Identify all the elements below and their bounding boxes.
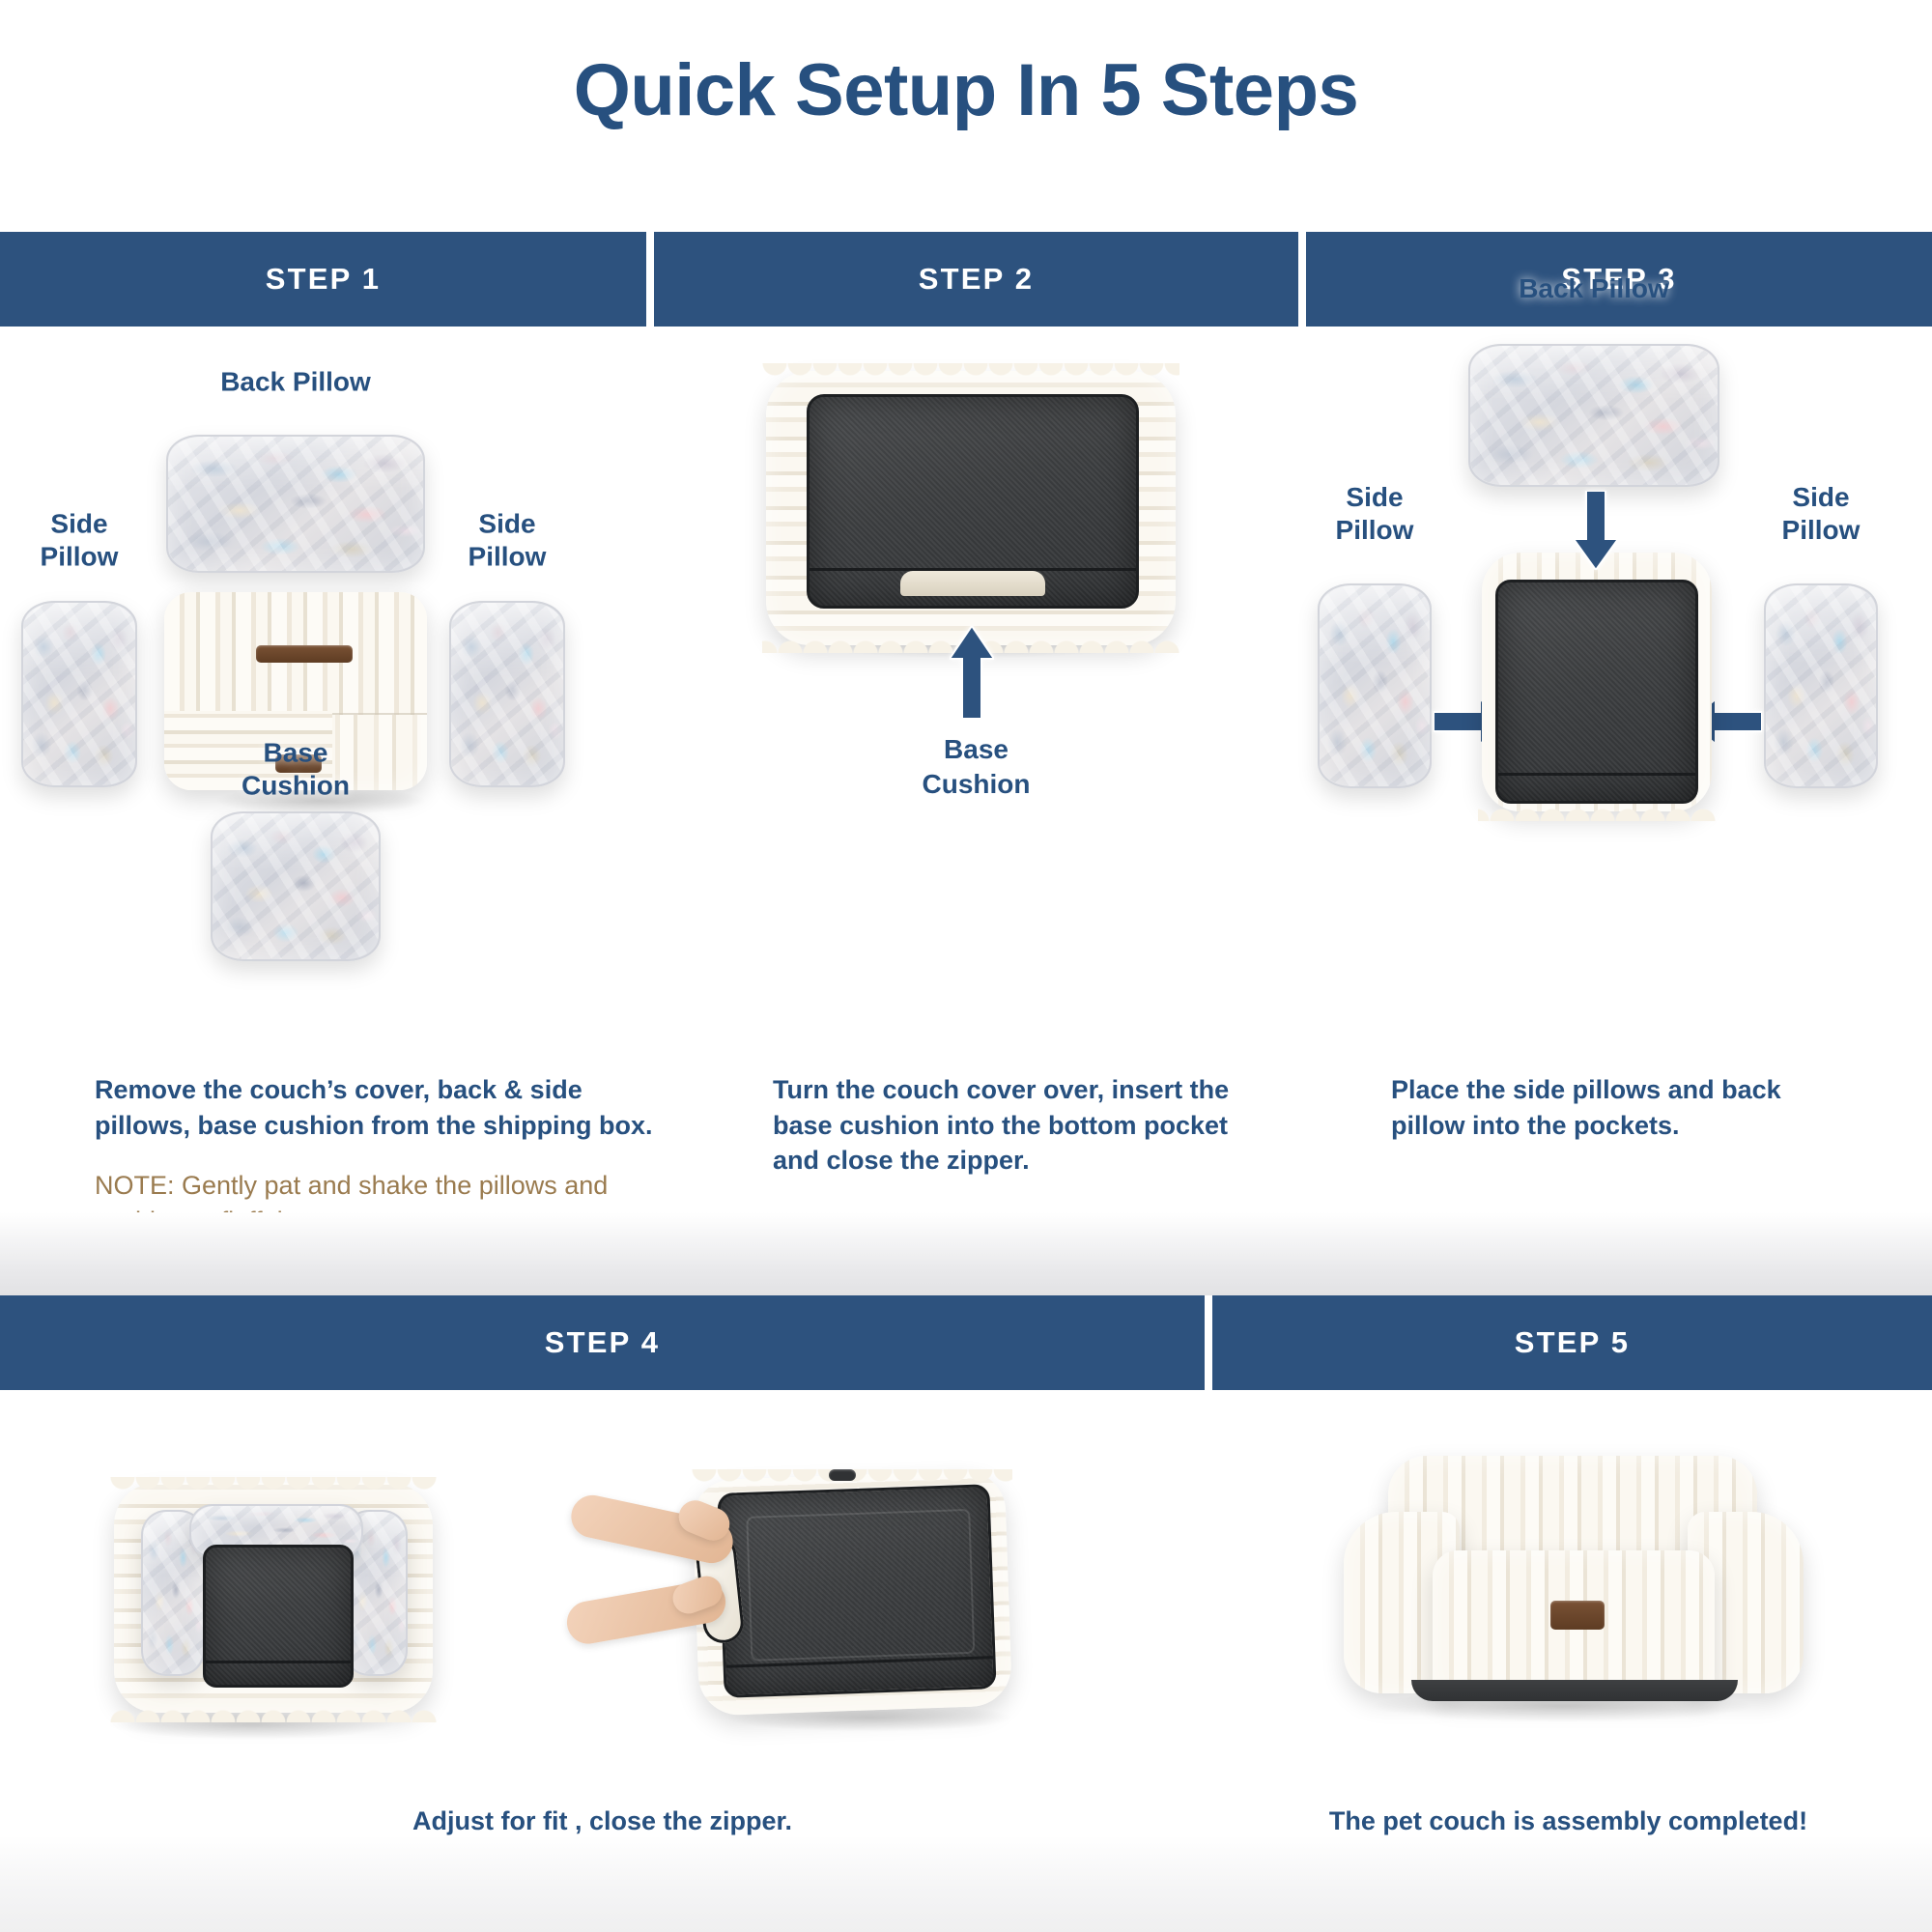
step-1-column: Back Pillow Side Pillow Side Pillow <box>0 327 646 1041</box>
zipper-liner-step4b <box>717 1484 996 1698</box>
cover-handle-strap <box>256 645 353 663</box>
liner-seam-step3 <box>1498 773 1695 776</box>
step-4-column-b <box>599 1390 1205 1776</box>
hang-loop-step4b <box>829 1469 856 1481</box>
liner-inner-outline <box>746 1509 975 1662</box>
step2-label-line2: Cushion <box>923 769 1031 799</box>
step-3-column: Back Pillow Side Pillow Side Pillow <box>1306 327 1932 1041</box>
bottom-pocket-liner <box>807 394 1139 609</box>
back-pillow-label-step3: Back Pillow <box>1468 272 1719 415</box>
step-1-illustration: Back Pillow Side Pillow Side Pillow <box>0 327 646 1041</box>
base-cushion-arrow-up <box>950 626 994 719</box>
step-2-caption-block: Turn the couch cover over, insert the ba… <box>773 1072 1275 1179</box>
step-4-illustration-a <box>0 1390 599 1776</box>
step-5-caption: The pet couch is assembly completed! <box>1205 1806 1932 1836</box>
step-header-4: STEP 4 <box>0 1295 1205 1390</box>
brand-tag-step5 <box>1550 1601 1605 1630</box>
side-pillow-right-label: Side Pillow <box>449 508 565 695</box>
base-cushion-arrow-label: Base Cushion <box>654 732 1298 803</box>
step-3-caption: Place the side pillows and back pillow i… <box>1391 1072 1845 1143</box>
side-pillow-left-line1: Side <box>50 509 107 539</box>
s3-right-line2: Pillow <box>1782 515 1861 545</box>
step-header-2: STEP 2 <box>654 232 1298 327</box>
step-header-band-bottom: STEP 4 STEP 5 <box>0 1295 1932 1390</box>
s3-right-line1: Side <box>1792 482 1849 512</box>
step-1-caption: Remove the couch’s cover, back & side pi… <box>95 1072 674 1143</box>
step-2-column: Base Cushion <box>654 327 1298 1041</box>
back-pillow-arrow-down <box>1574 491 1618 570</box>
step-3-illustration: Back Pillow Side Pillow Side Pillow <box>1306 327 1932 1041</box>
side-pillow-left-line2: Pillow <box>41 542 119 572</box>
step-4-caption: Adjust for fit , close the zipper. <box>0 1806 1205 1836</box>
s3-left-line2: Pillow <box>1336 515 1414 545</box>
step-4-illustration-b <box>599 1390 1205 1776</box>
section-divider-gradient <box>0 1212 1932 1295</box>
infographic-page: Quick Setup In 5 Steps STEP 1 STEP 2 STE… <box>0 0 1932 1932</box>
scallop-top-step2 <box>762 363 1179 388</box>
side-pillow-left-label-step3: Side Pillow <box>1318 481 1432 686</box>
side-pillow-right-label-step3: Side Pillow <box>1764 481 1878 686</box>
seat-seam-step4a <box>206 1661 351 1663</box>
step-4-column-a <box>0 1390 599 1776</box>
side-pillow-right-line1: Side <box>478 509 535 539</box>
seat-liner-step4a <box>203 1545 354 1688</box>
step2-label-line1: Base <box>944 734 1009 764</box>
bottom-gradient <box>0 1835 1932 1932</box>
step-2-illustration: Base Cushion <box>654 327 1298 1041</box>
center-liner-step3 <box>1495 580 1698 804</box>
side-pillow-right-line2: Pillow <box>469 542 547 572</box>
pocket-seam <box>810 568 1136 571</box>
base-cushion-line1: Base <box>264 738 328 768</box>
step-header-1: STEP 1 <box>0 232 646 327</box>
s3-left-line1: Side <box>1346 482 1403 512</box>
step-2-caption: Turn the couch cover over, insert the ba… <box>773 1072 1275 1179</box>
page-title: Quick Setup In 5 Steps <box>0 46 1932 134</box>
base-cushion-label: Base Cushion <box>211 737 381 887</box>
step-5-column <box>1205 1390 1932 1776</box>
base-cushion-line2: Cushion <box>241 771 350 801</box>
scallop-top-step4a <box>110 1477 437 1502</box>
scallop-bottom-step4a <box>110 1697 437 1722</box>
side-pillow-left-label: Side Pillow <box>21 508 137 695</box>
step-header-5: STEP 5 <box>1212 1295 1932 1390</box>
back-pillow-label: Back Pillow <box>166 366 425 504</box>
pocket-opening <box>900 571 1045 596</box>
step-3-caption-block: Place the side pillows and back pillow i… <box>1391 1072 1845 1143</box>
couch-base-dark-edge <box>1411 1680 1738 1701</box>
step-5-illustration <box>1205 1390 1932 1776</box>
